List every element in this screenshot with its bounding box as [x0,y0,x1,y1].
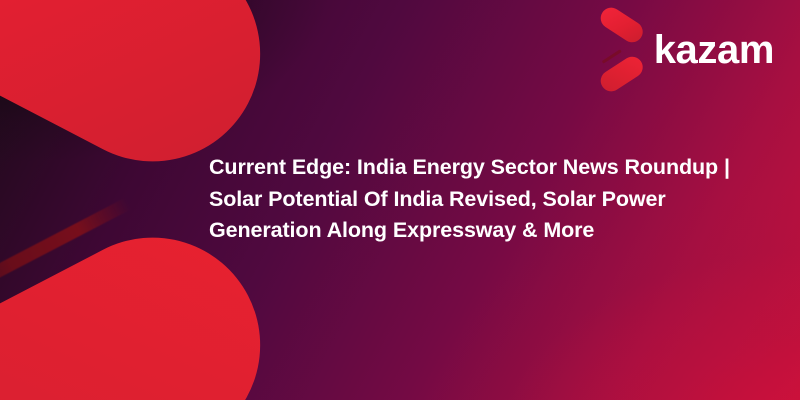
article-title: Current Edge: India Energy Sector News R… [209,152,754,247]
logo-seam [601,49,621,63]
kazam-chevron-logo-icon [593,24,643,76]
article-title-line-2: Solar Potential Of India Revised, Solar … [209,184,754,216]
article-title-line-3: Generation Along Expressway & More [209,215,754,247]
brand-lockup[interactable]: kazam [593,24,774,76]
article-title-line-1: Current Edge: India Energy Sector News R… [209,152,754,184]
article-hero-banner: kazam Current Edge: India Energy Sector … [0,0,800,400]
brand-wordmark: kazam [654,30,774,70]
